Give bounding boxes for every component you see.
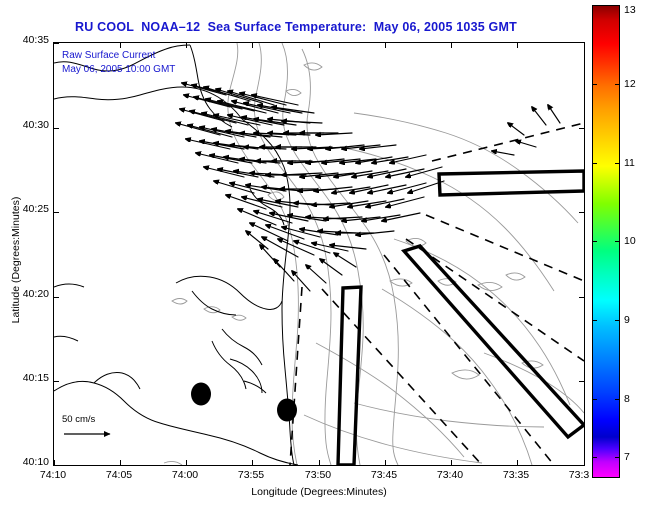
x-tick — [252, 460, 253, 465]
colorbar-tick — [592, 320, 597, 321]
x-tick-top — [385, 43, 386, 48]
colorbar-tick-label: 8 — [624, 393, 630, 405]
y-tick-right — [579, 297, 584, 298]
x-tick-label: 74:00 — [172, 469, 198, 481]
y-tick — [54, 212, 59, 213]
radar-beam-lines — [290, 123, 584, 465]
x-tick-label: 73:40 — [437, 469, 463, 481]
colorbar-tick-label: 9 — [624, 314, 630, 326]
x-tick-label: 73:45 — [371, 469, 397, 481]
colorbar-tick — [615, 241, 620, 242]
colorbar-tick — [592, 399, 597, 400]
y-tick-right — [579, 381, 584, 382]
colorbar-tick-label: 10 — [624, 235, 636, 247]
colorbar-tick-label: 12 — [624, 78, 636, 90]
colorbar-tick-label: 7 — [624, 451, 630, 463]
station-marker — [277, 399, 297, 422]
station-markers — [191, 383, 297, 422]
map-axes: Raw Surface CurrentMay 06, 2005 10:00 GM… — [53, 42, 585, 466]
x-tick — [451, 460, 452, 465]
colorbar-tick — [615, 399, 620, 400]
x-tick — [319, 460, 320, 465]
radar-coverage-corridors — [338, 171, 584, 465]
colorbar-tick — [592, 241, 597, 242]
colorbar-tick — [615, 320, 620, 321]
x-tick-label: 74:05 — [106, 469, 132, 481]
y-tick-right — [579, 212, 584, 213]
colorbar-tick-label: 13 — [624, 4, 636, 16]
map-canvas: Raw Surface CurrentMay 06, 2005 10:00 GM… — [54, 43, 584, 465]
station-marker — [191, 383, 211, 406]
colorbar-tick — [592, 457, 597, 458]
x-tick-top — [517, 43, 518, 48]
annotation-line-1: Raw Surface Current — [62, 50, 155, 61]
y-tick — [54, 128, 59, 129]
annotation-line-2: May 06, 2005 10:00 GMT — [62, 64, 175, 75]
surface-current-vectors — [176, 83, 560, 291]
x-tick — [385, 460, 386, 465]
colorbar-tick — [615, 457, 620, 458]
current-annotation: Raw Surface CurrentMay 06, 2005 10:00 GM… — [62, 49, 175, 77]
x-tick-top — [451, 43, 452, 48]
colorbar-tick — [615, 163, 620, 164]
y-axis-title: Latitude (Degrees:Minutes) — [10, 160, 22, 360]
y-tick — [54, 43, 59, 44]
scale-key-label: 50 cm/s — [62, 414, 118, 425]
x-tick-top — [120, 43, 121, 48]
x-tick-top — [186, 43, 187, 48]
x-tick — [584, 460, 585, 465]
y-tick — [54, 297, 59, 298]
x-tick-label: 73:3 — [569, 469, 589, 481]
colorbar-tick — [592, 84, 597, 85]
x-tick — [186, 460, 187, 465]
figure-title: RU COOL NOAA–12 Sea Surface Temperature:… — [0, 20, 592, 34]
velocity-scale-key: 50 cm/s — [62, 414, 118, 445]
colorbar-tick — [615, 5, 620, 6]
x-tick — [517, 460, 518, 465]
arrow-right-icon — [62, 428, 118, 440]
coastline — [54, 45, 298, 465]
colorbar-tick — [592, 5, 597, 6]
x-tick-label: 73:35 — [503, 469, 529, 481]
x-tick-label: 74:10 — [40, 469, 66, 481]
y-tick — [54, 465, 59, 466]
x-axis-title: Longitude (Degrees:Minutes) — [53, 486, 585, 498]
colorbar-tick — [615, 84, 620, 85]
x-tick — [120, 460, 121, 465]
x-tick-label: 73:50 — [305, 469, 331, 481]
x-tick-label: 73:55 — [238, 469, 264, 481]
figure: RU COOL NOAA–12 Sea Surface Temperature:… — [0, 0, 651, 515]
colorbar-tick — [592, 163, 597, 164]
y-tick — [54, 381, 59, 382]
map-graphics — [54, 43, 584, 465]
colorbar-tick-label: 11 — [624, 157, 635, 169]
x-tick-top — [252, 43, 253, 48]
y-tick-right — [579, 128, 584, 129]
x-tick-top — [319, 43, 320, 48]
